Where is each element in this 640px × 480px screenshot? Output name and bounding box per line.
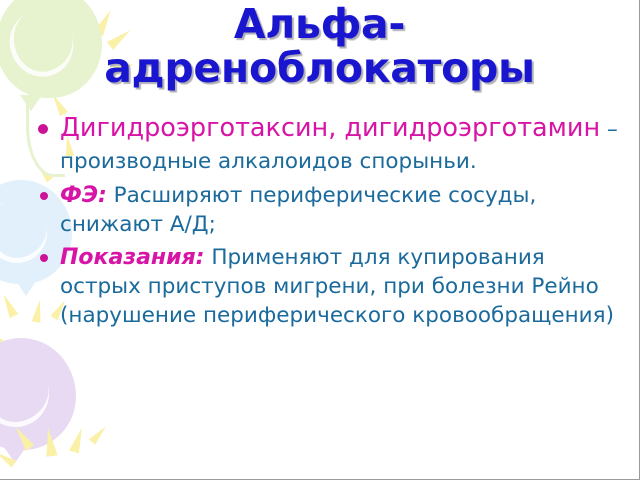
presentation-slide: Альфа- адреноблокаторы Дигидроэрготаксин… (0, 0, 640, 480)
sunburst-ray (69, 426, 87, 453)
bullet-2-text: Расширяют периферические сосуды, снижают… (60, 183, 536, 237)
list-item: Дигидроэрготаксин, дигидроэрготамин – пр… (34, 113, 624, 177)
bullet-dot-icon (38, 124, 48, 134)
title-line-2: адреноблокаторы (0, 46, 639, 90)
list-item: ФЭ: Расширяют периферические сосуды, сни… (34, 181, 624, 239)
slide-body: Дигидроэрготаксин, дигидроэрготамин – пр… (34, 113, 624, 334)
list-item: Показания: Применяют для купирования ост… (34, 243, 624, 330)
sunburst-ray (89, 424, 109, 445)
balloon-knot (4, 447, 26, 463)
sunburst-ray (12, 424, 35, 451)
title-line-1: Альфа- (0, 2, 639, 46)
bullet-dot-icon (40, 192, 48, 200)
bullet-dot-icon (40, 254, 48, 262)
sunburst-ray (0, 328, 5, 347)
balloon-highlight (0, 351, 58, 437)
sunburst-ray (42, 427, 57, 457)
bullet-2-emphasis: ФЭ: (60, 183, 107, 208)
balloon-knot (20, 95, 42, 111)
balloon-knot (16, 281, 36, 296)
purple-balloon (0, 338, 76, 450)
slide-title: Альфа- адреноблокаторы (0, 2, 639, 90)
sunburst-ray (0, 292, 18, 318)
sunburst-ray (0, 449, 16, 467)
bullet-3-emphasis: Показания: (60, 245, 204, 270)
bullet-1-emphasis: Дигидроэрготаксин, дигидроэрготамин (60, 113, 600, 143)
